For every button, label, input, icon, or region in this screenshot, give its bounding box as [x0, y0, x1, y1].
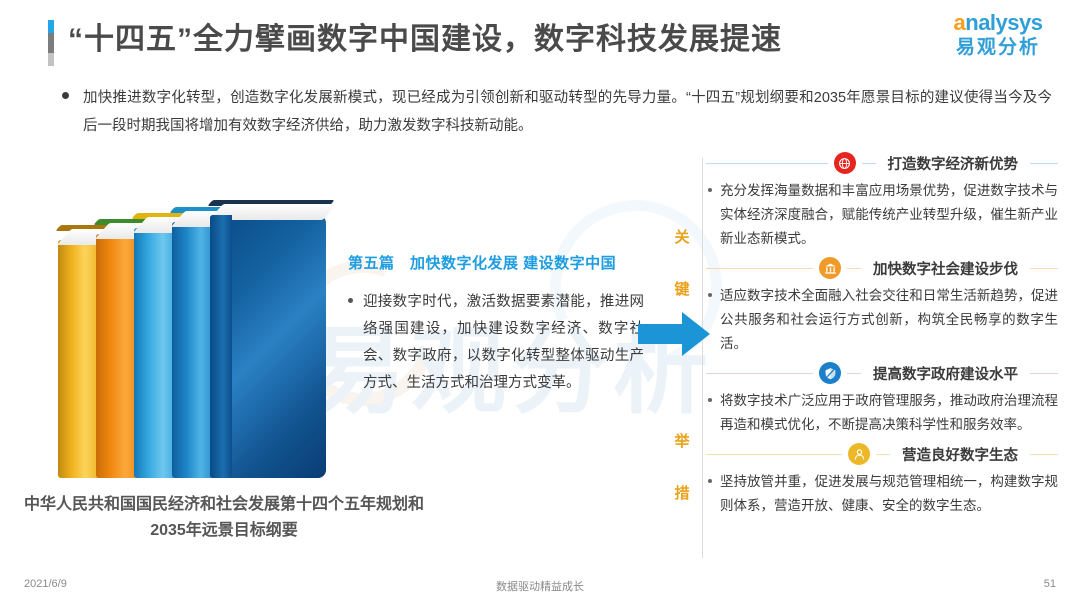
section-1-header: 打造数字经济新优势	[706, 150, 1058, 176]
middle-text: 迎接数字时代，激活数据要素潜能，推进网络强国建设，加快建设数字经济、数字社会、数…	[363, 289, 644, 397]
footer: 2021/6/9 数据驱动精益成长 51	[0, 578, 1080, 598]
vlabel-char-1: 关	[672, 212, 692, 264]
middle-body: 迎接数字时代，激活数据要素潜能，推进网络强国建设，加快建设数字经济、数字社会、数…	[348, 289, 644, 397]
section-3-rule-mid	[847, 373, 861, 374]
globe-icon	[834, 152, 856, 174]
section-3-rule-left	[706, 373, 813, 374]
section-4-rule-left	[706, 454, 842, 455]
footer-slogan: 数据驱动精益成长	[0, 578, 1080, 594]
section-1-text: 充分发挥海量数据和丰富应用场景优势，促进数字技术与实体经济深度融合，赋能传统产业…	[720, 179, 1058, 251]
section-3-body: 将数字技术广泛应用于政府管理服务，推动政府治理流程再造和模式优化，不断提高决策科…	[706, 389, 1058, 437]
bullet-dot-icon	[348, 298, 353, 303]
slide-root: 易观分析 “十四五”全力擘画数字中国建设，数字科技发展提速 analysys 易…	[0, 0, 1080, 608]
vlabel-char-4: 措	[672, 468, 692, 520]
book-5-spine	[210, 215, 232, 478]
section-2-title: 加快数字社会建设步伐	[867, 258, 1024, 279]
section-2-body: 适应数字技术全面融入社会交往和日常生活新趋势，促进公共服务和社会运行方式创新，构…	[706, 284, 1058, 356]
middle-heading: 第五篇 加快数字化发展 建设数字中国	[348, 252, 644, 273]
person-icon	[848, 443, 870, 465]
intro-text: 加快推进数字化转型，创造数字化发展新模式，现已经成为引领创新和驱动转型的先导力量…	[83, 84, 1052, 140]
section-1-body: 充分发挥海量数据和丰富应用场景优势，促进数字技术与实体经济深度融合，赋能传统产业…	[706, 179, 1058, 251]
middle-column: 第五篇 加快数字化发展 建设数字中国 迎接数字时代，激活数据要素潜能，推进网络强…	[348, 252, 644, 397]
section-3-rule-right	[1030, 373, 1058, 374]
section-4-title: 营造良好数字生态	[896, 444, 1024, 465]
vertical-label-key-measures: 关 键 · 举 措	[672, 212, 692, 520]
section-4-body: 坚持放管并重，促进发展与规范管理相统一，构建数字规则体系，营造开放、健康、安全的…	[706, 470, 1058, 518]
books-caption: 中华人民共和国国民经济和社会发展第十四个五年规划和2035年远景目标纲要	[24, 492, 424, 544]
section-4-rule-right	[1030, 454, 1058, 455]
section-2-rule-right	[1030, 268, 1058, 269]
section-digital-society: 加快数字社会建设步伐 适应数字技术全面融入社会交往和日常生活新趋势，促进公共服务…	[706, 255, 1058, 356]
section-1-title: 打造数字经济新优势	[882, 153, 1025, 174]
section-2-text: 适应数字技术全面融入社会交往和日常生活新趋势，促进公共服务和社会运行方式创新，构…	[720, 284, 1058, 356]
section-3-title: 提高数字政府建设水平	[867, 363, 1024, 384]
header: “十四五”全力擘画数字中国建设，数字科技发展提速	[0, 12, 1080, 74]
vlabel-char-2: 键	[672, 264, 692, 316]
bullet-dot-icon	[62, 92, 69, 99]
section-digital-economy: 打造数字经济新优势 充分发挥海量数据和丰富应用场景优势，促进数字技术与实体经济深…	[706, 150, 1058, 251]
title-accent-bar	[48, 20, 54, 66]
bullet-dot-icon	[708, 293, 712, 297]
section-3-header: 提高数字政府建设水平	[706, 360, 1058, 386]
bullet-dot-icon	[708, 398, 712, 402]
section-3-text: 将数字技术广泛应用于政府管理服务，推动政府治理流程再造和模式优化，不断提高决策科…	[720, 389, 1058, 437]
section-1-rule-right	[1030, 163, 1058, 164]
section-digital-ecology: 营造良好数字生态 坚持放管并重，促进发展与规范管理相统一，构建数字规则体系，营造…	[706, 441, 1058, 518]
section-4-text: 坚持放管并重，促进发展与规范管理相统一，构建数字规则体系，营造开放、健康、安全的…	[720, 470, 1058, 518]
book-5	[210, 215, 326, 478]
books-illustration	[38, 168, 338, 478]
right-column: 打造数字经济新优势 充分发挥海量数据和丰富应用场景优势，促进数字技术与实体经济深…	[706, 150, 1058, 522]
bullet-dot-icon	[708, 188, 712, 192]
bullet-dot-icon	[708, 479, 712, 483]
section-4-rule-mid	[876, 454, 890, 455]
section-2-rule-mid	[847, 268, 861, 269]
section-1-rule-mid	[862, 163, 876, 164]
footer-page-number: 51	[1044, 578, 1056, 590]
section-4-header: 营造良好数字生态	[706, 441, 1058, 467]
section-2-rule-left	[706, 268, 813, 269]
section-digital-government: 提高数字政府建设水平 将数字技术广泛应用于政府管理服务，推动政府治理流程再造和模…	[706, 360, 1058, 437]
intro-paragraph: 加快推进数字化转型，创造数字化发展新模式，现已经成为引领创新和驱动转型的先导力量…	[62, 84, 1052, 140]
bank-icon	[819, 257, 841, 279]
section-1-rule-left	[706, 163, 828, 164]
page-title: “十四五”全力擘画数字中国建设，数字科技发展提速	[68, 14, 782, 58]
section-2-header: 加快数字社会建设步伐	[706, 255, 1058, 281]
shield-icon	[819, 362, 841, 384]
vlabel-char-3: 举	[672, 416, 692, 468]
